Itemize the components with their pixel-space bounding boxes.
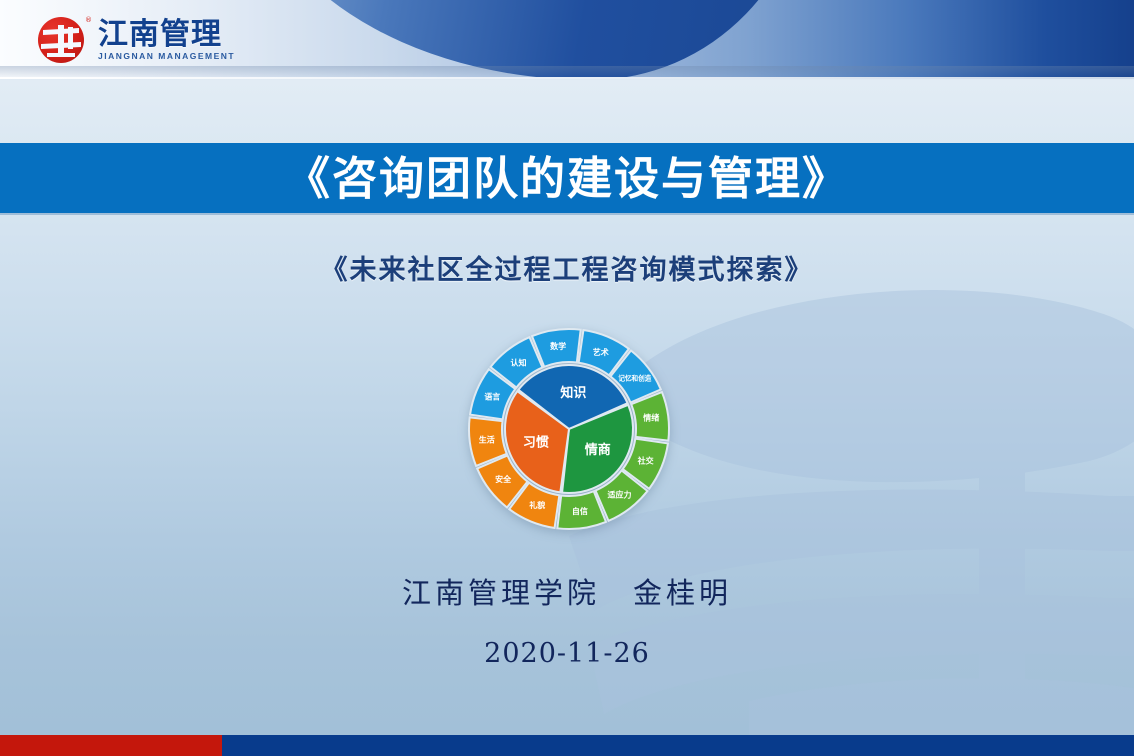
wheel-outer-label: 适应力 bbox=[608, 489, 632, 499]
slide-subtitle: 《未来社区全过程工程咨询模式探索》 bbox=[0, 248, 1134, 287]
wheel-outer-label: 生活 bbox=[479, 434, 495, 444]
wheel-outer-label: 情绪 bbox=[642, 413, 659, 423]
wheel-outer-label: 安全 bbox=[495, 474, 512, 484]
wheel-outer-label: 艺术 bbox=[593, 347, 609, 357]
company-logo: ® 江南管理 JIANGNAN MANAGEMENT bbox=[38, 15, 235, 65]
header-divider bbox=[0, 77, 1134, 79]
footer-red-segment bbox=[0, 735, 222, 756]
wheel-outer-label: 自信 bbox=[572, 506, 588, 516]
competency-wheel-diagram: 艺术记忆和创造情绪社交适应力自信礼貌安全生活语言认知数学知识情商习惯 bbox=[459, 319, 679, 539]
wheel-outer-label: 语言 bbox=[484, 392, 500, 402]
slide-title: 《咨询团队的建设与管理》 bbox=[285, 156, 849, 201]
presentation-date: 2020-11-26 bbox=[0, 638, 1134, 669]
wheel-outer-label: 认知 bbox=[510, 358, 526, 368]
footer-bar bbox=[0, 735, 1134, 756]
wheel-outer-label: 社交 bbox=[637, 455, 654, 465]
wheel-inner-label: 知识 bbox=[560, 385, 586, 401]
presenter-line: 江南管理学院 金桂明 bbox=[0, 570, 1134, 612]
logo-company-name-en: JIANGNAN MANAGEMENT bbox=[98, 51, 235, 61]
wheel-inner-label: 情商 bbox=[585, 442, 611, 458]
jiangnan-circle-mark-icon: ® bbox=[38, 15, 88, 65]
logo-company-name-cn: 江南管理 bbox=[98, 19, 235, 51]
wheel-inner-label: 习惯 bbox=[523, 435, 549, 451]
wheel-outer-label: 记忆和创造 bbox=[618, 373, 651, 382]
footer-blue-segment bbox=[222, 735, 1134, 756]
wheel-outer-label: 礼貌 bbox=[529, 500, 545, 510]
presentation-slide: ® 江南管理 JIANGNAN MANAGEMENT 《咨询团队的建设与管理》 … bbox=[0, 0, 1134, 756]
wheel-outer-label: 数学 bbox=[550, 341, 566, 351]
registered-trademark-icon: ® bbox=[85, 16, 92, 24]
title-band: 《咨询团队的建设与管理》 bbox=[0, 143, 1134, 213]
